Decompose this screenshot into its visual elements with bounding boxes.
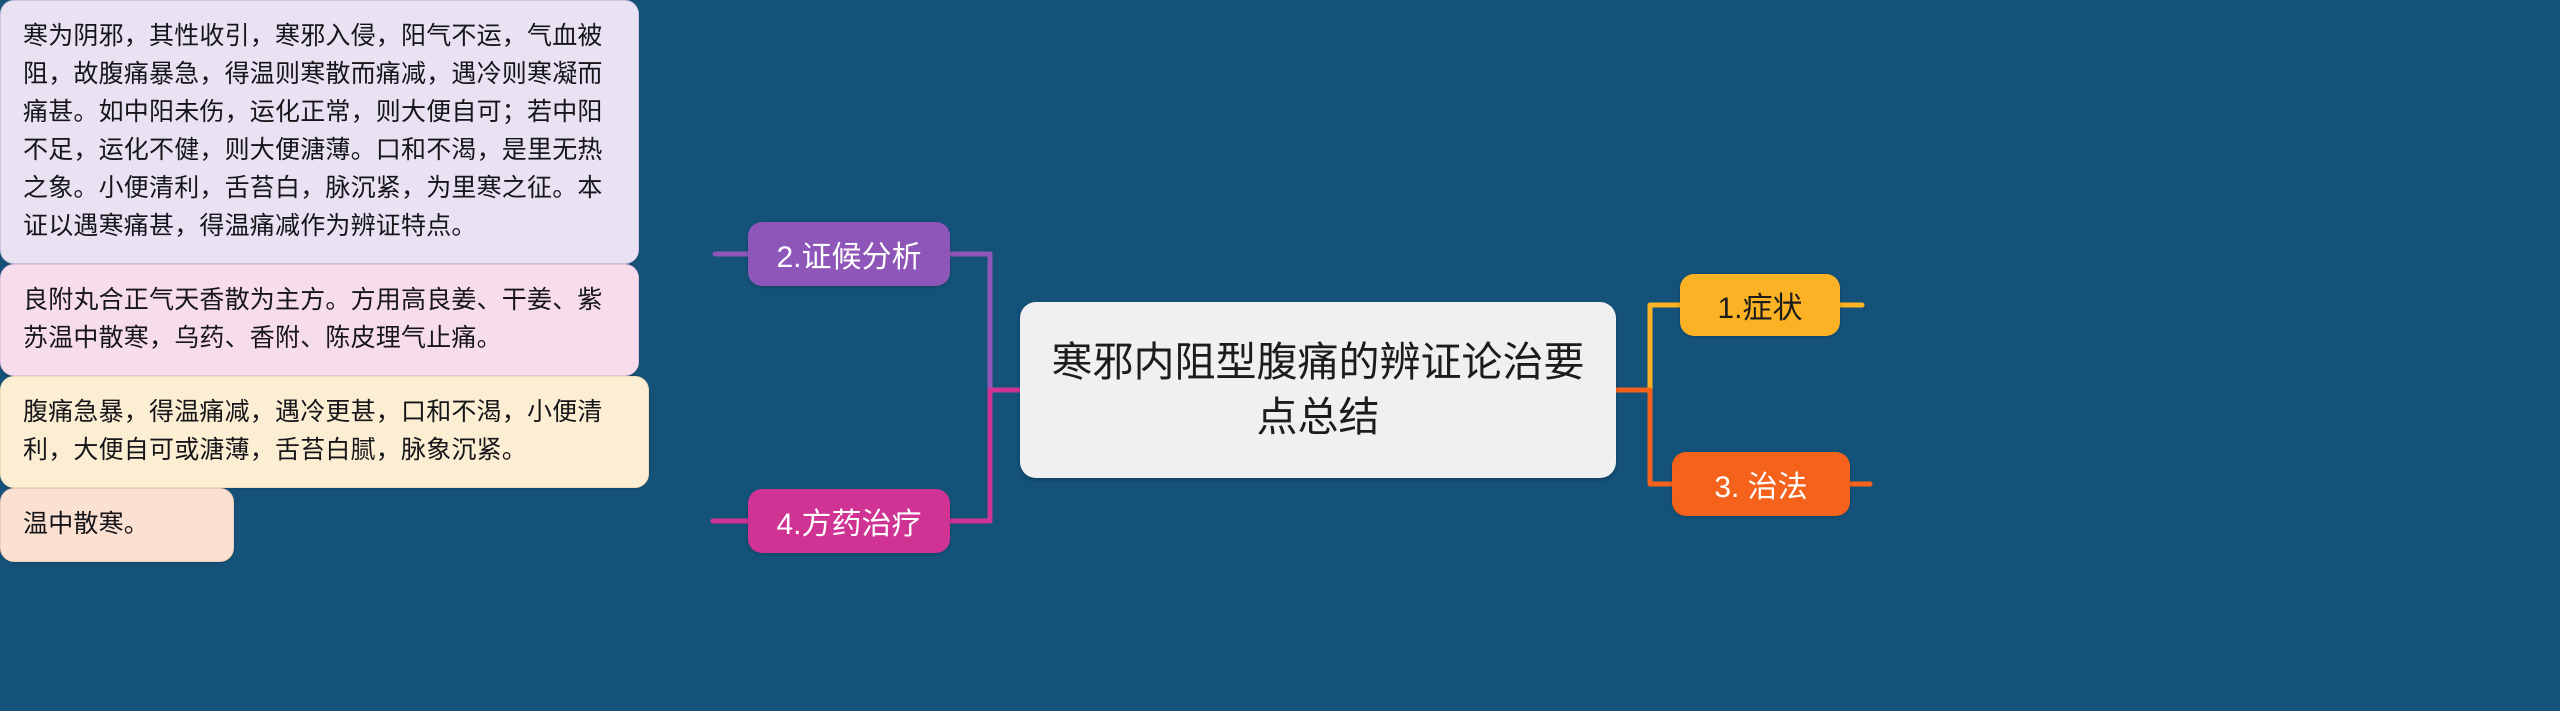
mindmap-canvas: 寒邪内阻型腹痛的辨证论治要点总结 寒为阴邪，其性收引，寒邪入侵，阳气不运，气血被… (0, 0, 2560, 711)
branch-2-detail-box[interactable]: 寒为阴邪，其性收引，寒邪入侵，阳气不运，气血被阻，故腹痛暴急，得温则寒散而痛减，… (0, 0, 639, 264)
branch-1-label: 1.症状 (1717, 283, 1802, 327)
connector-center-to-node-3 (1616, 390, 1672, 484)
connector-center-to-node-4 (950, 390, 1020, 521)
branch-3-node[interactable]: 3. 治法 (1672, 452, 1850, 516)
branch-1-detail-box[interactable]: 腹痛急暴，得温痛减，遇冷更甚，口和不渴，小便清利，大便自可或溏薄，舌苔白腻，脉象… (0, 376, 649, 488)
branch-1-node[interactable]: 1.症状 (1680, 274, 1840, 336)
branch-2-node[interactable]: 2.证候分析 (748, 222, 950, 286)
connector-center-to-node-2 (950, 254, 1020, 390)
branch-4-label: 4.方药治疗 (776, 499, 921, 543)
branch-3-label: 3. 治法 (1714, 462, 1807, 506)
connector-center-to-node-1 (1616, 305, 1680, 390)
center-topic-label: 寒邪内阻型腹痛的辨证论治要点总结 (1046, 335, 1590, 445)
branch-4-node[interactable]: 4.方药治疗 (748, 489, 950, 553)
center-topic-node[interactable]: 寒邪内阻型腹痛的辨证论治要点总结 (1020, 302, 1616, 478)
branch-3-detail-box[interactable]: 温中散寒。 (0, 488, 234, 562)
branch-2-label: 2.证候分析 (776, 232, 921, 276)
branch-4-detail-box[interactable]: 良附丸合正气天香散为主方。方用高良姜、干姜、紫苏温中散寒，乌药、香附、陈皮理气止… (0, 264, 639, 376)
